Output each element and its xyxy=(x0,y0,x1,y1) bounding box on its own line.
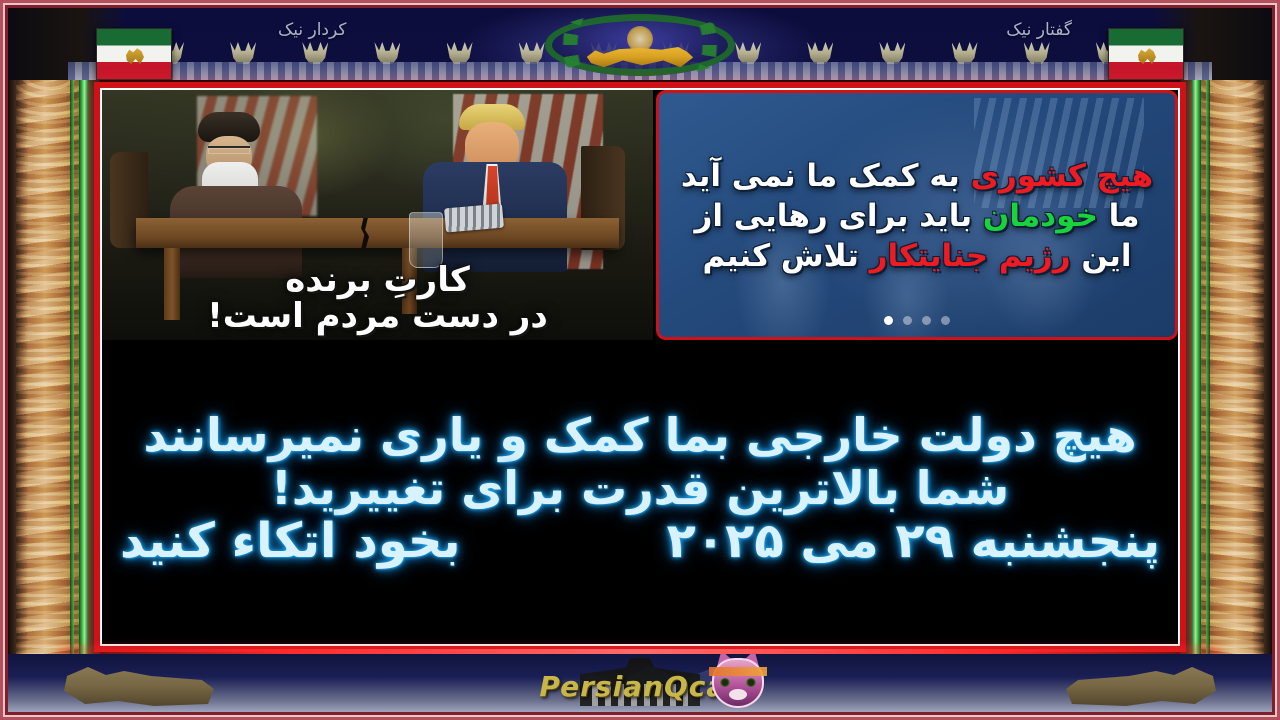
photo-caption-line-1: کارتِ برنده xyxy=(102,262,653,298)
quote-line-2: ما خودمان باید برای رهایی از xyxy=(675,197,1159,237)
message-line-2: شما بالاترین قدرت برای تغییرید! xyxy=(114,462,1166,514)
quote-line-3: این رژیم جنایتکار تلاش کنیم xyxy=(675,237,1159,277)
video-frame: کردار نیک گفتار نیک xyxy=(0,0,1280,720)
message-block: هیچ دولت خارجی بما کمک و یاری نمیرسانند … xyxy=(102,340,1178,644)
cat-eye-right xyxy=(746,678,756,687)
carousel-dots[interactable] xyxy=(659,316,1175,325)
banner-calligraphy-left: کردار نیک xyxy=(278,20,346,40)
ornate-column-right xyxy=(1180,80,1272,658)
quote-text-3a: این xyxy=(1071,238,1132,274)
quote-highlight-2: خودمان xyxy=(983,198,1098,234)
column-capital-icon xyxy=(519,42,545,64)
message-date: پنجشنبه ۲۹ می ۲۰۲۵ xyxy=(666,514,1160,569)
column-capital-icon xyxy=(302,42,328,64)
quote-panel: هیچ کشوری به کمک ما نمی آید ما خودمان با… xyxy=(656,90,1178,340)
quote-highlight-1: هیچ کشوری xyxy=(971,158,1154,194)
iran-flag-icon-left xyxy=(96,28,172,80)
quote-text-2c: باید برای رهایی از xyxy=(694,198,982,234)
quote-text-3c: تلاش کنیم xyxy=(702,238,869,274)
carousel-dot-2[interactable] xyxy=(903,316,912,325)
column-capital-icon xyxy=(807,42,833,64)
bull-capital-icon-right xyxy=(1066,658,1216,708)
photo-caption: کارتِ برنده در دست مردم است! xyxy=(102,262,653,334)
top-banner: کردار نیک گفتار نیک xyxy=(8,8,1272,80)
quote-line-1: هیچ کشوری به کمک ما نمی آید xyxy=(675,157,1159,197)
column-green-stripe xyxy=(79,80,88,658)
column-capital-icon xyxy=(447,42,473,64)
photo-caption-line-2: در دست مردم است! xyxy=(102,298,653,334)
quote-highlight-3: رژیم جنایتکار xyxy=(870,238,1071,274)
bull-capital-icon-left xyxy=(64,658,214,708)
quote-text-1: به کمک ما نمی آید xyxy=(681,158,971,194)
table-top xyxy=(136,218,619,248)
media-row: کارتِ برنده در دست مردم است! هیچ کشوری ب… xyxy=(102,90,1178,340)
column-capital-icon xyxy=(374,42,400,64)
column-capital-icon xyxy=(952,42,978,64)
message-slogan: بخود اتکاء کنید xyxy=(120,514,461,569)
column-green-stripe-thin xyxy=(1206,80,1210,658)
poster-red-frame: کارتِ برنده در دست مردم است! هیچ کشوری ب… xyxy=(94,82,1186,652)
cat-eye-left xyxy=(720,678,730,687)
cat-headband xyxy=(709,667,767,676)
cat-mascot-icon xyxy=(712,658,764,708)
cat-snout xyxy=(729,689,747,700)
message-line-1: هیچ دولت خارجی بما کمک و یاری نمیرسانند xyxy=(114,409,1166,461)
message-line-3: پنجشنبه ۲۹ می ۲۰۲۵ بخود اتکاء کنید xyxy=(114,514,1166,569)
carousel-dot-3[interactable] xyxy=(922,316,931,325)
column-capital-icon xyxy=(879,42,905,64)
column-green-stripe-thin xyxy=(70,80,74,658)
quote-text-2a: ما xyxy=(1098,198,1140,234)
column-capital-icon xyxy=(735,42,761,64)
column-capital-icon xyxy=(230,42,256,64)
carousel-dot-1[interactable] xyxy=(884,316,893,325)
carousel-dot-4[interactable] xyxy=(941,316,950,325)
playing-cards-icon xyxy=(444,204,504,233)
column-capital-icon xyxy=(1024,42,1050,64)
column-green-stripe xyxy=(1192,80,1201,658)
news-photo: کارتِ برنده در دست مردم است! xyxy=(102,90,656,340)
poster-content: کارتِ برنده در دست مردم است! هیچ کشوری ب… xyxy=(100,88,1180,646)
ornate-column-left xyxy=(8,80,100,658)
iran-flag-icon-right xyxy=(1108,28,1184,80)
glasses-icon xyxy=(208,146,250,154)
bottom-ornament-bar: PersianQcat xyxy=(8,654,1272,712)
banner-calligraphy-right: گفتار نیک xyxy=(1006,20,1072,40)
lion-and-sun-emblem-icon xyxy=(545,14,735,76)
